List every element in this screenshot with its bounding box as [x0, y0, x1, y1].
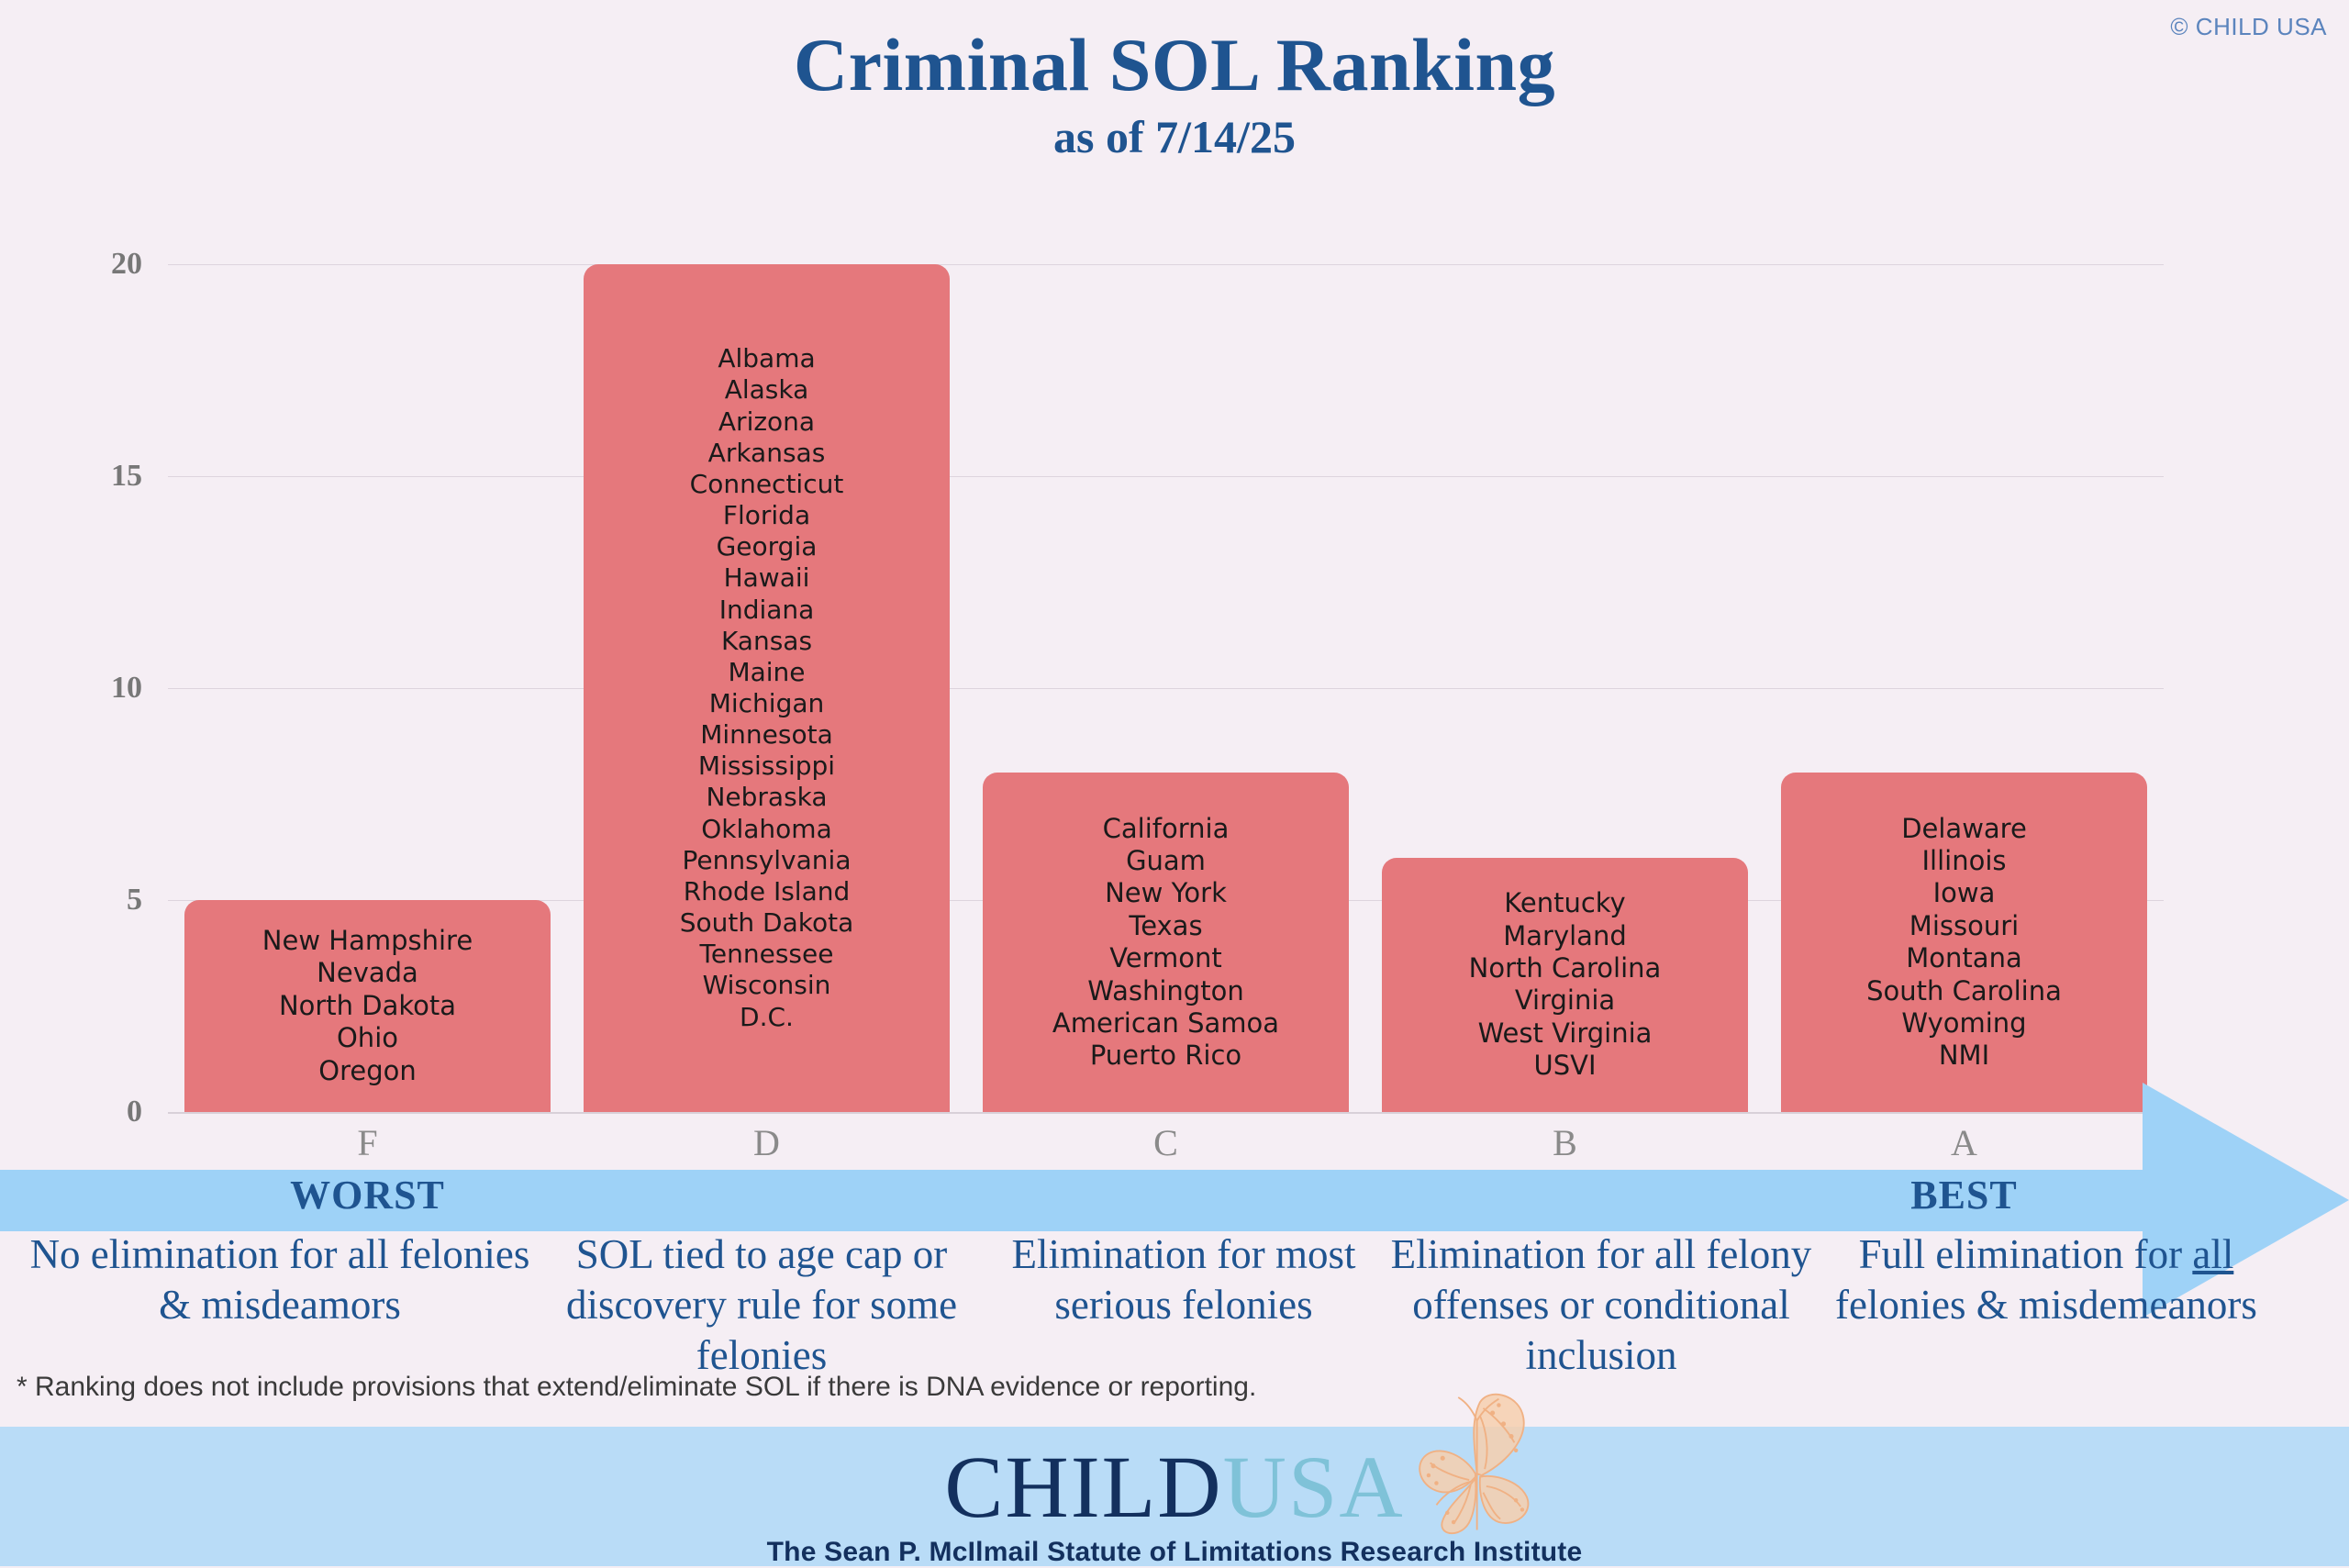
bar-member: American Samoa: [986, 1007, 1345, 1040]
butterfly-icon: [1399, 1387, 1555, 1548]
bar-member: Texas: [986, 910, 1345, 942]
bar-f-members: New HampshireNevadaNorth DakotaOhioOrego…: [184, 925, 551, 1087]
bar-member: Arizona: [587, 406, 946, 438]
bar-member: Kentucky: [1386, 887, 1744, 919]
bar-member: Iowa: [1785, 877, 2143, 909]
x-tick-label-a: A: [1765, 1121, 2164, 1164]
bar-member: South Dakota: [587, 907, 946, 939]
bar-c-members: CaliforniaGuamNew YorkTexasVermontWashin…: [983, 813, 1349, 1073]
bar-member: USVI: [1386, 1050, 1744, 1082]
bar-member: Nebraska: [587, 782, 946, 813]
bar-member: New Hampshire: [188, 925, 547, 957]
bar-member: Oklahoma: [587, 814, 946, 845]
childusa-logo: CHILD USA: [767, 1443, 1583, 1568]
y-tick-label-5: 5: [127, 883, 142, 917]
logo-child-text: CHILD: [944, 1443, 1222, 1531]
bar-member: Vermont: [986, 942, 1345, 974]
bar-member: Puerto Rico: [986, 1040, 1345, 1072]
bar-member: North Carolina: [1386, 952, 1744, 984]
page-subtitle: as of 7/14/25: [0, 110, 2349, 163]
bar-d-members: AlbamaAlaskaArizonaArkansasConnecticutFl…: [584, 343, 950, 1032]
bar-b[interactable]: KentuckyMarylandNorth CarolinaVirginiaWe…: [1382, 858, 1748, 1112]
x-tick-label-c: C: [966, 1121, 1365, 1164]
bar-member: Montana: [1785, 942, 2143, 974]
y-tick-label-20: 20: [111, 247, 142, 282]
bar-member: West Virginia: [1386, 1018, 1744, 1050]
y-tick-label-0: 0: [127, 1095, 142, 1129]
x-tick-label-f: F: [168, 1121, 567, 1164]
bar-member: Hawaii: [587, 562, 946, 594]
bar-series: New HampshireNevadaNorth DakotaOhioOrego…: [168, 264, 2164, 1112]
bar-member: Delaware: [1785, 813, 2143, 845]
description-f: No elimination for all felonies & misdea…: [9, 1229, 551, 1330]
bar-member: California: [986, 813, 1345, 845]
bar-member: Albama: [587, 343, 946, 374]
bar-slot-b: KentuckyMarylandNorth CarolinaVirginiaWe…: [1365, 264, 1765, 1112]
bar-member: Illinois: [1785, 845, 2143, 877]
bar-member: Kansas: [587, 626, 946, 657]
bar-slot-c: CaliforniaGuamNew YorkTexasVermontWashin…: [966, 264, 1365, 1112]
bar-member: Arkansas: [587, 438, 946, 469]
bar-member: Connecticut: [587, 469, 946, 500]
bar-member: Wyoming: [1785, 1007, 2143, 1040]
x-tick-label-d: D: [567, 1121, 966, 1164]
bar-member: Washington: [986, 975, 1345, 1007]
bar-member: South Carolina: [1785, 975, 2143, 1007]
best-label: BEST: [1765, 1172, 2164, 1218]
x-tick-label-b: B: [1365, 1121, 1765, 1164]
bar-member: Tennessee: [587, 939, 946, 970]
footer-bar: CHILD USA: [0, 1427, 2349, 1566]
bar-a[interactable]: DelawareIllinoisIowaMissouriMontanaSouth…: [1781, 773, 2147, 1112]
bar-member: Maryland: [1386, 920, 1744, 952]
bar-f[interactable]: New HampshireNevadaNorth DakotaOhioOrego…: [184, 900, 551, 1112]
bar-slot-a: DelawareIllinoisIowaMissouriMontanaSouth…: [1765, 264, 2164, 1112]
bar-member: Wisconsin: [587, 970, 946, 1001]
bar-slot-d: AlbamaAlaskaArizonaArkansasConnecticutFl…: [567, 264, 966, 1112]
description-a: Full elimination for all felonies & misd…: [1821, 1229, 2271, 1330]
bar-a-members: DelawareIllinoisIowaMissouriMontanaSouth…: [1781, 813, 2147, 1073]
y-tick-label-10: 10: [111, 671, 142, 706]
logo-wordmark: CHILD USA: [944, 1443, 1404, 1531]
bar-member: Alaska: [587, 374, 946, 406]
bar-d[interactable]: AlbamaAlaskaArizonaArkansasConnecticutFl…: [584, 264, 950, 1112]
bar-member: D.C.: [587, 1002, 946, 1033]
x-axis-line: [168, 1112, 2164, 1114]
description-c: Elimination for most serious felonies: [977, 1229, 1390, 1330]
bar-member: Guam: [986, 845, 1345, 877]
bar-member: Nevada: [188, 957, 547, 989]
bar-member: Oregon: [188, 1055, 547, 1087]
y-tick-label-15: 15: [111, 459, 142, 494]
bar-member: Ohio: [188, 1022, 547, 1054]
bar-member: Rhode Island: [587, 876, 946, 907]
y-axis: 20 15 10 5 0: [0, 264, 168, 1112]
worst-label: WORST: [168, 1172, 567, 1218]
bar-member: Michigan: [587, 688, 946, 719]
description-b: Elimination for all felony offenses or c…: [1386, 1229, 1817, 1381]
bar-member: Georgia: [587, 531, 946, 562]
page-title: Criminal SOL Ranking: [0, 26, 2349, 105]
bar-member: North Dakota: [188, 990, 547, 1022]
bar-member: Virginia: [1386, 984, 1744, 1017]
bar-c[interactable]: CaliforniaGuamNew YorkTexasVermontWashin…: [983, 773, 1349, 1112]
bar-member: Minnesota: [587, 719, 946, 751]
bar-slot-f: New HampshireNevadaNorth DakotaOhioOrego…: [168, 264, 567, 1112]
bar-member: Indiana: [587, 595, 946, 626]
bar-member: Missouri: [1785, 910, 2143, 942]
bar-member: Florida: [587, 500, 946, 531]
footnote: * Ranking does not include provisions th…: [17, 1372, 1256, 1403]
bar-member: Mississippi: [587, 751, 946, 782]
bar-member: New York: [986, 877, 1345, 909]
bar-member: Maine: [587, 657, 946, 688]
title-block: Criminal SOL Ranking as of 7/14/25: [0, 26, 2349, 163]
bar-member: Pennsylvania: [587, 845, 946, 876]
logo-usa-text: USA: [1223, 1443, 1405, 1531]
bar-member: NMI: [1785, 1040, 2143, 1072]
bar-b-members: KentuckyMarylandNorth CarolinaVirginiaWe…: [1382, 887, 1748, 1082]
description-d: SOL tied to age cap or discovery rule fo…: [551, 1229, 973, 1381]
